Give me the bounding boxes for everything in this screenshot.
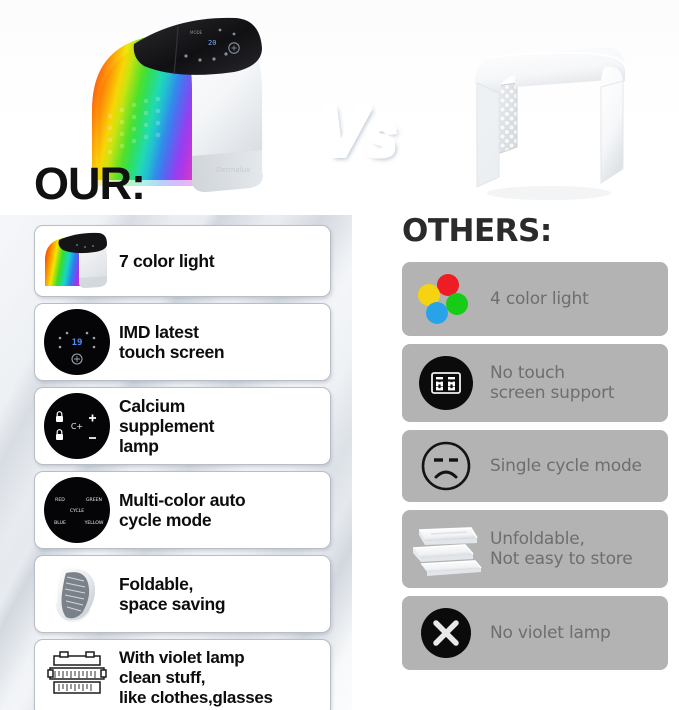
svg-text:MODE: MODE: [190, 30, 203, 35]
stacked-panels-icon: [402, 510, 490, 588]
our-features-list: 7 color light 19 IMD latest touch screen: [34, 225, 331, 710]
other-feature-row[interactable]: 4 color light: [402, 262, 668, 336]
our-feature-row[interactable]: 7 color light: [34, 225, 331, 297]
other-feature-row[interactable]: Unfoldable, Not easy to store: [402, 510, 668, 588]
x-mark-circle-icon: [402, 596, 490, 670]
lock-plus-minus-circle-icon: C+: [35, 388, 119, 464]
our-feature-label: Calcium supplement lamp: [119, 396, 330, 457]
svg-text:GREEN: GREEN: [86, 497, 102, 503]
other-feature-label: 4 color light: [490, 289, 668, 309]
color-cycle-circle-icon: RED GREEN BLUE YELLOW CYCLE: [35, 472, 119, 548]
our-feature-row[interactable]: RED GREEN BLUE YELLOW CYCLE Multi-color …: [34, 471, 331, 549]
our-feature-row[interactable]: With violet lamp clean stuff, like cloth…: [34, 639, 331, 710]
violet-lamp-panel-icon: [35, 640, 119, 710]
other-feature-label: No violet lamp: [490, 623, 668, 643]
others-features-list: 4 color light: [402, 262, 668, 678]
vs-badge: Vs: [318, 80, 428, 185]
our-feature-label: Foldable, space saving: [119, 574, 330, 615]
other-feature-row[interactable]: No touch screen support: [402, 344, 668, 422]
our-feature-label: With violet lamp clean stuff, like cloth…: [119, 648, 330, 707]
our-heading: OUR:: [34, 158, 145, 210]
other-feature-row[interactable]: No violet lamp: [402, 596, 668, 670]
other-feature-row[interactable]: Single cycle mode: [402, 430, 668, 502]
our-feature-label: IMD latest touch screen: [119, 322, 330, 363]
svg-text:Dermalux: Dermalux: [216, 166, 251, 174]
svg-text:BLUE: BLUE: [54, 520, 66, 526]
touch-panel-circle-icon: 19: [35, 304, 119, 380]
infographic-canvas: 20 MODE Dermalux: [0, 0, 679, 710]
our-feature-label: 7 color light: [119, 251, 330, 271]
four-color-dots-icon: [402, 262, 490, 336]
svg-text:RED: RED: [55, 497, 65, 503]
our-feature-label: Multi-color auto cycle mode: [119, 490, 330, 531]
our-feature-row[interactable]: Foldable, space saving: [34, 555, 331, 633]
folded-device-icon: [35, 556, 119, 632]
svg-text:YELLOW: YELLOW: [84, 520, 104, 526]
our-feature-row[interactable]: 19 IMD latest touch screen: [34, 303, 331, 381]
vs-letter-s: s: [364, 102, 395, 169]
seven-segment-display-circle-icon: [402, 344, 490, 422]
sad-face-icon: [402, 430, 490, 502]
other-feature-label: Single cycle mode: [490, 456, 668, 476]
other-feature-label: No touch screen support: [490, 363, 668, 404]
vs-letter-v: V: [318, 92, 364, 172]
competitor-product-hero-image: [455, 35, 640, 210]
our-feature-row[interactable]: C+ Calcium supplement lamp: [34, 387, 331, 465]
svg-text:20: 20: [208, 39, 216, 47]
svg-text:CYCLE: CYCLE: [70, 508, 84, 514]
rainbow-dome-device-icon: [35, 226, 119, 296]
other-feature-label: Unfoldable, Not easy to store: [490, 529, 668, 570]
others-heading: OTHERS:: [402, 213, 552, 249]
svg-text:C+: C+: [71, 422, 83, 431]
svg-text:19: 19: [72, 338, 83, 348]
